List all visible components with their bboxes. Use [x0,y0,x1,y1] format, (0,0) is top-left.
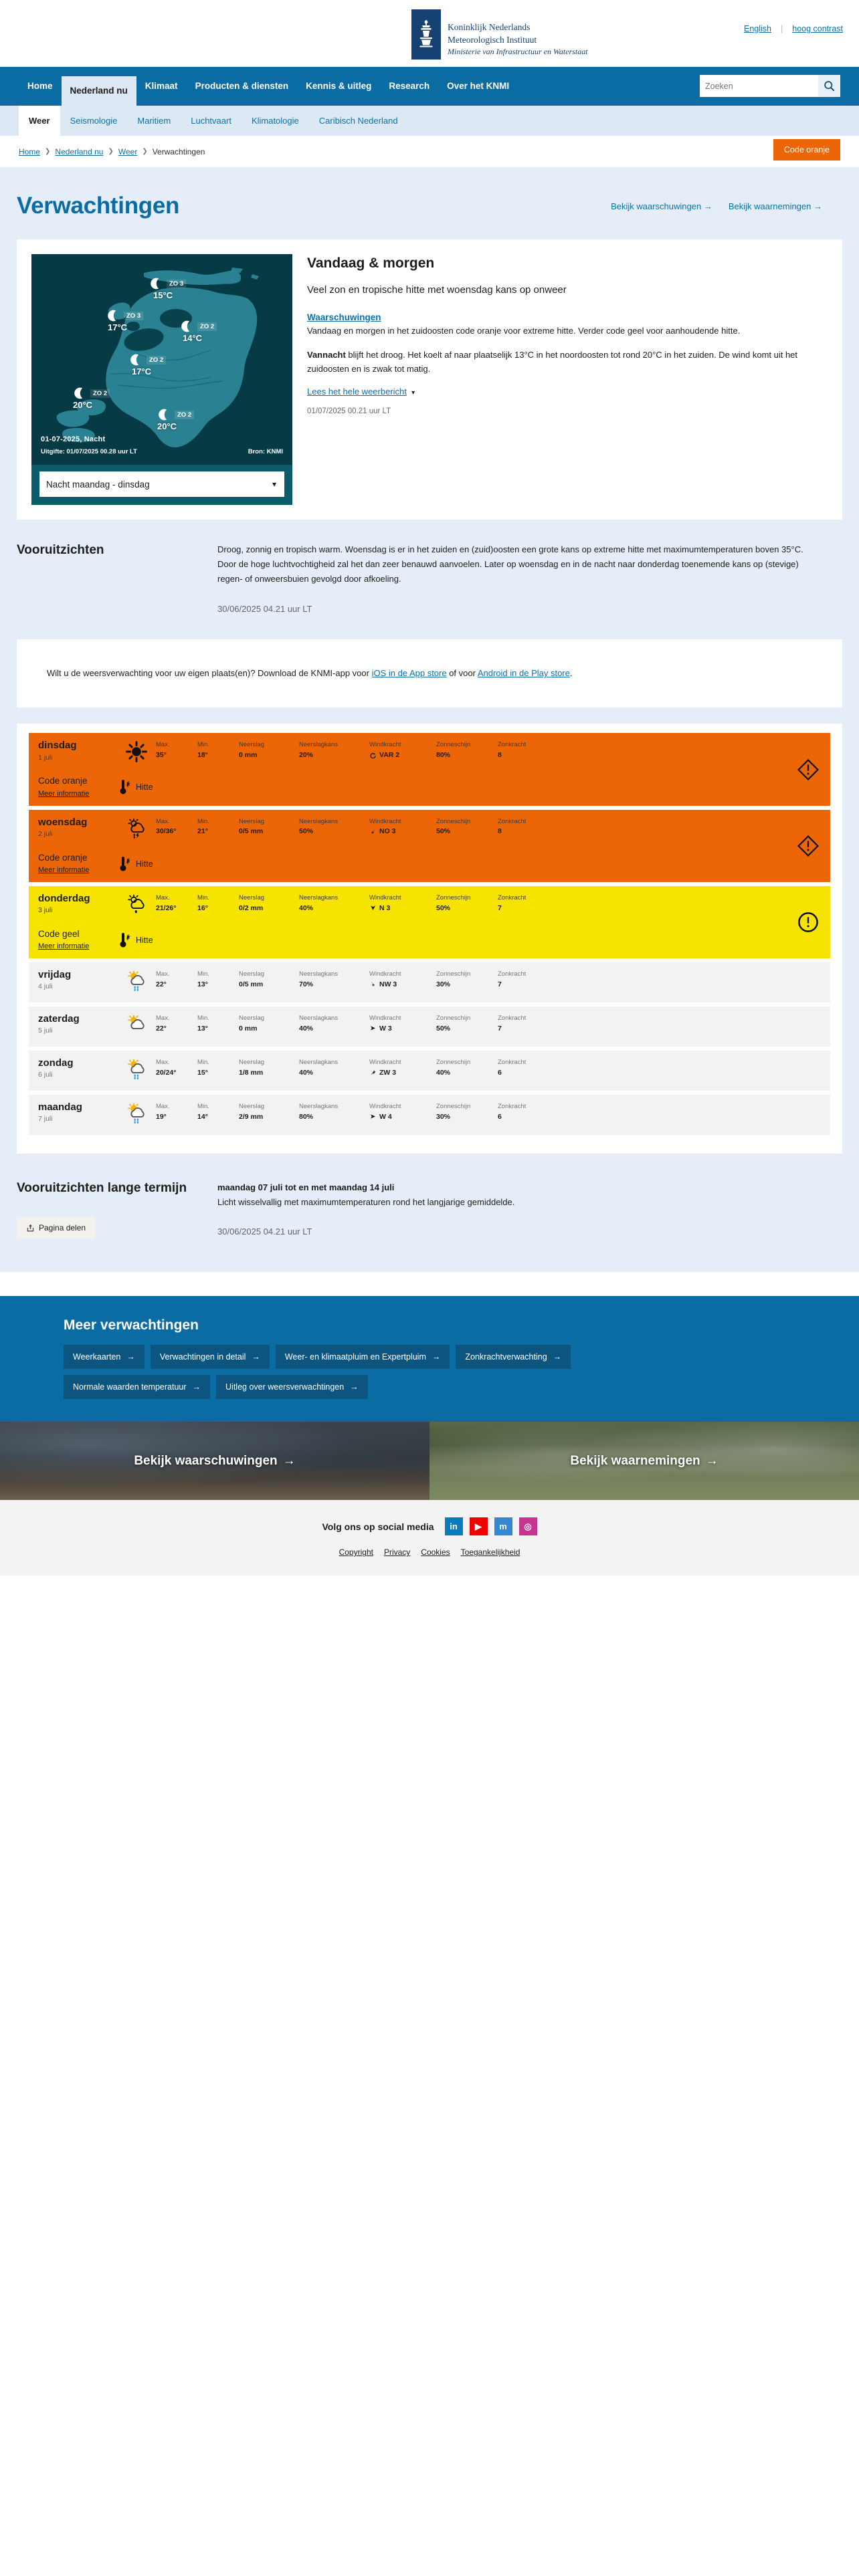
tile-label: Bekijk waarschuwingen [134,1454,277,1469]
metric-sun: Zonneschijn50% [436,1014,498,1033]
alert-kind-label: Hitte [136,859,153,869]
subnav-link-seismologie[interactable]: Seismologie [60,106,128,136]
map-point: ZO 3 17°C [106,309,143,332]
metric-label: Zonneschijn [436,1059,498,1067]
metric-label: Min. [197,970,239,978]
metric-value: 13° [197,1025,239,1033]
forecast-day: zaterdag [38,1013,125,1025]
metric-wind: WindkrachtW 3 [369,1014,436,1033]
arrow-right-icon: → [193,1382,201,1392]
forecast-day: maandag [38,1101,125,1113]
nav-link-research[interactable]: Research [380,67,438,106]
alert-kind: Hitte [118,776,153,796]
chip-normale-waarden-temperatuur[interactable]: Normale waarden temperatuur→ [64,1375,210,1399]
forecast-date: 2 juli [38,830,125,838]
sub-navigation: Weer Seismologie Maritiem Luchtvaart Kli… [0,106,859,136]
metric-value: 50% [299,827,369,835]
metric-wind: WindkrachtVAR 2 [369,741,436,759]
sun-cloud-thunder-icon [125,817,156,843]
metric-value: 70% [299,980,369,988]
metric-value: 40% [299,904,369,912]
nav-link-nederland-nu[interactable]: Nederland nu [62,76,136,106]
breadcrumb-weer[interactable]: Weer [118,147,137,156]
chip-label: Normale waarden temperatuur [73,1382,187,1392]
wind-arrow-icon [369,828,377,835]
page-body: Verwachtingen Bekijk waarschuwingen → Be… [0,167,859,1272]
warnings-body: Vandaag en morgen in het zuidoosten code… [307,324,814,338]
moon-icon [73,387,86,400]
map-point: ZO 2 20°C [73,387,110,410]
breadcrumb-separator-icon: ❯ [45,148,50,155]
metric-rain-chance: Neerslagkans20% [299,741,369,759]
footer-links: Copyright Privacy Cookies Toegankelijkhe… [0,1547,859,1557]
metric-label: Neerslag [239,741,299,749]
search-input[interactable] [700,76,818,96]
alert-kind-label: Hitte [136,782,153,792]
metric-value-wrap: W 3 [369,1025,436,1033]
nav-item-over-het-knmi[interactable]: Over het KNMI [438,67,518,106]
linkedin-icon[interactable]: in [445,1517,463,1535]
metric-label: Zonkracht [498,894,538,902]
metric-value-wrap: W 4 [369,1113,436,1121]
forecast-metrics: Max.22° Min.13° Neerslag0/5 mm Neerslagk… [156,969,821,988]
metric-value: NW 3 [379,980,397,988]
forecast-day: zondag [38,1057,125,1069]
metric-sun: Zonneschijn50% [436,894,498,912]
link-bekijk-waarschuwingen[interactable]: Bekijk waarschuwingen → [611,201,712,211]
footer-link-cookies[interactable]: Cookies [421,1547,450,1557]
metric-label: Neerslagkans [299,894,369,902]
nav-item-nederland-nu[interactable]: Nederland nu [62,76,136,106]
metric-label: Windkracht [369,1059,436,1067]
chip-weer-en-klimaatpluim[interactable]: Weer- en klimaatpluim en Expertpluim→ [276,1345,450,1369]
metric-rain-chance: Neerslagkans40% [299,1059,369,1077]
moon-icon [129,353,142,366]
metric-min: Min.13° [197,970,239,988]
nav-item-klimaat[interactable]: Klimaat [136,67,187,106]
table-row[interactable]: zondag 6 juli Max.20/24° Min.15° Neersla… [29,1051,830,1091]
metric-value: 7 [498,904,538,912]
metric-min: Min.14° [197,1103,239,1121]
chip-label: Weer- en klimaatpluim en Expertpluim [285,1352,426,1362]
tile-waarschuwingen[interactable]: Bekijk waarschuwingen→ [0,1422,429,1500]
footer-link-privacy[interactable]: Privacy [384,1547,410,1557]
top-utility-links: English | hoog contrast [744,24,843,33]
metric-label: Zonkracht [498,818,538,826]
alert-kind: Hitte [118,929,153,949]
metric-value: 7 [498,980,538,988]
social-label: Volg ons op social media [322,1521,434,1532]
nav-item-kennis-uitleg[interactable]: Kennis & uitleg [297,67,380,106]
forecast-date: 3 juli [38,906,125,914]
alert-kind: Hitte [118,853,153,873]
metric-value: 50% [436,827,498,835]
warnings-link[interactable]: Waarschuwingen [307,312,381,322]
metric-uv: Zonkracht6 [498,1103,538,1121]
metric-label: Neerslagkans [299,818,369,826]
map-point: ZO 2 14°C [180,320,217,343]
metric-value: 7 [498,1025,538,1033]
metric-label: Zonneschijn [436,818,498,826]
metric-value: 0 mm [239,751,299,759]
metric-label: Neerslag [239,1059,299,1067]
app-promo-text: Wilt u de weersverwachting voor uw eigen… [47,666,812,681]
weather-map-column: ZO 3 15°C ZO 3 17°C [31,254,292,505]
forecast-date: 1 juli [38,754,125,762]
nav-link-kennis-uitleg[interactable]: Kennis & uitleg [297,67,380,106]
map-temp: 14°C [183,333,217,343]
forecast-metrics: Max.30/36° Min.21° Neerslag0/5 mm Neersl… [156,817,821,836]
longterm-body: Licht wisselvallig met maximumtemperatur… [217,1195,816,1210]
metric-rain: Neerslag2/9 mm [239,1103,299,1121]
metric-label: Zonneschijn [436,1103,498,1111]
metric-label: Max. [156,1014,197,1023]
subnav-link-caribisch-nederland[interactable]: Caribisch Nederland [309,106,408,136]
table-row[interactable]: maandag 7 juli Max.19° Min.14° Neerslag2… [29,1095,830,1135]
day-select[interactable]: Nacht maandag - dinsdag Dinsdag overdag … [39,471,284,497]
chip-weerkaarten[interactable]: Weerkaarten→ [64,1345,145,1369]
more-info-link[interactable]: Meer informatie [38,866,89,874]
breadcrumb-home[interactable]: Home [19,147,40,156]
metric-value: 13° [197,980,239,988]
metric-value: 0 mm [239,1025,299,1033]
breadcrumb-row: Home ❯ Nederland nu ❯ Weer ❯ Verwachting… [0,136,859,167]
link-bekijk-waarnemingen[interactable]: Bekijk waarnemingen → [729,201,822,211]
table-row[interactable]: woensdag 2 juli Max.30/36° Min.21° Neers… [29,810,830,882]
metric-uv: Zonkracht8 [498,741,538,759]
map-wind: ZO 2 [175,411,194,419]
tile-waarnemingen[interactable]: Bekijk waarnemingen→ [429,1422,859,1500]
metric-label: Neerslag [239,818,299,826]
metric-label: Max. [156,894,197,902]
outlook-heading-col: Vooruitzichten [17,542,187,617]
breadcrumb-separator-icon: ❯ [142,148,147,155]
breadcrumb-nederland-nu[interactable]: Nederland nu [55,147,103,156]
page-tail-whitespace [0,1576,859,2004]
moon-icon [180,320,193,333]
metric-label: Zonneschijn [436,894,498,902]
metric-sun: Zonneschijn80% [436,741,498,759]
metric-uv: Zonkracht7 [498,970,538,988]
wind-arrow-icon [369,1025,377,1032]
table-row[interactable]: vrijdag 4 juli Max.22° Min.13° Neerslag0… [29,962,830,1002]
subnav-link-maritiem[interactable]: Maritiem [127,106,181,136]
logo-ministry: Ministerie van Infrastructuur en Waterst… [448,46,588,58]
outlook-section: Vooruitzichten Droog, zonnig en tropisch… [0,520,859,623]
forecast-day-col: donderdag 3 juli [38,893,125,914]
footer-link-copyright[interactable]: Copyright [339,1547,373,1557]
page-header-links: Bekijk waarschuwingen → Bekijk waarnemin… [611,201,859,211]
promo-text-3: . [570,668,573,678]
chip-label: Verwachtingen in detail [160,1352,246,1362]
map-wind: ZO 2 [197,322,217,331]
language-link-english[interactable]: English [744,24,771,33]
metric-value: 80% [299,1113,369,1121]
metric-uv: Zonkracht6 [498,1059,538,1077]
metric-value: 22° [156,980,197,988]
promo-tiles: Bekijk waarschuwingen→ Bekijk waarneming… [0,1422,859,1500]
subnav-item-weer[interactable]: Weer [19,106,60,136]
metric-value: 80% [436,751,498,759]
warning-diamond-icon [797,835,820,857]
metric-label: Neerslag [239,1103,299,1111]
metric-label: Max. [156,1103,197,1111]
metric-value-wrap: VAR 2 [369,751,436,759]
crown-icon [417,19,435,49]
forecast-date: 5 juli [38,1027,125,1035]
forecast-date: 7 juli [38,1115,125,1123]
chevron-down-icon[interactable]: ▾ [409,389,415,397]
social-row: Volg ons op social media in ▶ m ◎ [0,1517,859,1535]
metric-rain: Neerslag0/2 mm [239,894,299,912]
map-temp: 17°C [108,322,143,332]
metric-label: Min. [197,1014,239,1023]
metric-label: Windkracht [369,894,436,902]
metric-wind: WindkrachtNW 3 [369,970,436,988]
chip-uitleg-over-weersverwachtingen[interactable]: Uitleg over weersverwachtingen→ [216,1375,368,1399]
arrow-right-icon: → [283,1454,296,1469]
metric-value: 0/5 mm [239,980,299,988]
page-title: Verwachtingen [17,193,179,219]
day-select-box[interactable]: Nacht maandag - dinsdag Dinsdag overdag … [39,471,284,497]
link-divider: | [781,24,783,33]
tonight-body: blijft het droog. Het koelt af naar plaa… [307,350,797,374]
map-temp: 20°C [73,400,110,410]
heat-thermometer-icon [118,855,130,873]
share-label: Pagina delen [39,1223,86,1232]
more-info-link[interactable]: Meer informatie [38,790,89,798]
table-row[interactable]: dinsdag 1 juli Max.35° Min.18° Neerslag0… [29,733,830,805]
breadcrumb-current: Verwachtingen [153,147,205,156]
search-button[interactable] [818,75,840,97]
arrow-right-icon: → [126,1352,135,1362]
subnav-link-luchtvaart[interactable]: Luchtvaart [181,106,242,136]
heat-thermometer-icon [118,778,130,796]
subnav-item-klimatologie[interactable]: Klimatologie [242,106,309,136]
tile-label: Bekijk waarnemingen [570,1454,700,1469]
metric-value: N 3 [379,904,390,912]
map-wind: ZO 2 [147,356,166,364]
map-temp: 17°C [132,366,166,377]
play-store-link[interactable]: Android in de Play store [478,668,570,678]
alert-code: Code oranje [38,776,112,786]
forecast-day-col: zaterdag 5 juli [38,1013,125,1035]
metric-label: Zonkracht [498,1014,538,1023]
nav-link-over-het-knmi[interactable]: Over het KNMI [438,67,518,106]
metric-wind: WindkrachtZW 3 [369,1059,436,1077]
metric-sun: Zonneschijn50% [436,818,498,836]
app-store-link[interactable]: iOS in de App store [372,668,447,678]
weather-map-image[interactable]: ZO 3 15°C ZO 3 17°C [31,254,292,465]
metric-label: Min. [197,1103,239,1111]
knmi-logo: Koninklijk Nederlands Meteorologisch Ins… [411,9,588,60]
forecast-metrics: Max.22° Min.13° Neerslag0 mm Neerslagkan… [156,1013,821,1033]
sun-cloud-icon [125,1013,156,1040]
nav-link-producten-diensten[interactable]: Producten & diensten [187,67,298,106]
metric-label: Neerslag [239,1014,299,1023]
metric-label: Zonkracht [498,970,538,978]
subnav-link-klimatologie[interactable]: Klimatologie [242,106,309,136]
alert-code-col: Code geel Meer informatie [38,929,112,952]
tile-link-waarnemingen[interactable]: Bekijk waarnemingen→ [570,1454,718,1469]
metric-rain: Neerslag0/5 mm [239,970,299,988]
search-box[interactable] [700,75,840,97]
map-temp: 20°C [157,421,194,431]
metric-value: ZW 3 [379,1069,396,1077]
metric-label: Zonkracht [498,1059,538,1067]
metric-rain-chance: Neerslagkans50% [299,818,369,836]
chip-zonkrachtverwachting[interactable]: Zonkrachtverwachting→ [456,1345,571,1369]
metric-value: W 3 [379,1025,392,1033]
alert-code: Code geel [38,929,112,940]
warnings-heading: Waarschuwingen [307,312,814,322]
metric-max: Max.19° [156,1103,197,1121]
metric-min: Min.21° [197,818,239,836]
longterm-timestamp: 30/06/2025 04.21 uur LT [217,1224,816,1239]
outlook-body-col: Droog, zonnig en tropisch warm. Woensdag… [217,542,842,617]
map-title: 01-07-2025, Nacht [41,435,105,443]
sun-cloud-rain-icon [125,1057,156,1084]
metric-value: VAR 2 [379,751,399,759]
metric-value: 6 [498,1113,538,1121]
mastodon-icon[interactable]: m [494,1517,512,1535]
metric-value: 8 [498,751,538,759]
metric-value: 14° [197,1113,239,1121]
chip-verwachtingen-in-detail[interactable]: Verwachtingen in detail→ [151,1345,270,1369]
forecast-day-col: maandag 7 juli [38,1101,125,1123]
outlook-heading: Vooruitzichten [17,542,187,559]
read-full-report-link[interactable]: Lees het hele weerbericht [307,387,407,397]
metric-rain-chance: Neerslagkans40% [299,894,369,912]
map-wind: ZO 3 [124,312,143,320]
forecast-date: 6 juli [38,1071,125,1079]
map-source: Bron: KNMI [248,448,283,455]
subnav-link-weer[interactable]: Weer [19,106,60,136]
nav-link-klimaat[interactable]: Klimaat [136,67,187,106]
longterm-period: maandag 07 juli tot en met maandag 14 ju… [217,1180,816,1195]
more-forecasts-section: Meer verwachtingen Weerkaarten→ Verwacht… [0,1296,859,1422]
wind-arrow-icon [369,1069,377,1076]
metric-wind: WindkrachtW 4 [369,1103,436,1121]
metric-value: 18° [197,751,239,759]
subnav-item-caribisch-nederland[interactable]: Caribisch Nederland [309,106,408,136]
arrow-right-icon: → [350,1382,359,1392]
nav-link-home[interactable]: Home [19,67,62,106]
instagram-icon[interactable]: ◎ [519,1517,537,1535]
metric-rain-chance: Neerslagkans70% [299,970,369,988]
sun-cloud-rain-icon [125,969,156,996]
metric-label: Zonneschijn [436,741,498,749]
metric-value: 20% [299,751,369,759]
metric-label: Zonkracht [498,741,538,749]
sub-nav-list: Weer Seismologie Maritiem Luchtvaart Kli… [19,106,408,136]
metric-value-wrap: ZW 3 [369,1069,436,1077]
tile-link-waarschuwingen[interactable]: Bekijk waarschuwingen→ [134,1454,295,1469]
outlook-body: Droog, zonnig en tropisch warm. Woensdag… [217,542,816,586]
today-lead: Veel zon en tropische hitte met woensdag… [307,282,814,299]
metric-rain: Neerslag0 mm [239,1014,299,1033]
map-issued: Uitgifte: 01/07/2025 00.28 uur LT [41,448,137,455]
high-contrast-link[interactable]: hoog contrast [792,24,843,33]
moon-icon [149,277,163,290]
metric-label: Windkracht [369,741,436,749]
share-page-button[interactable]: Pagina delen [17,1217,95,1239]
map-wind: ZO 3 [167,280,186,288]
metric-max: Max.20/24° [156,1059,197,1077]
promo-text-2: of voor [447,668,478,678]
footer: Volg ons op social media in ▶ m ◎ Copyri… [0,1500,859,1576]
nav-item-research[interactable]: Research [380,67,438,106]
subnav-item-seismologie[interactable]: Seismologie [60,106,128,136]
today-text-column: Vandaag & morgen Veel zon en tropische h… [307,254,828,505]
table-row[interactable]: zaterdag 5 juli Max.22° Min.13° Neerslag… [29,1006,830,1047]
moon-icon [106,309,120,322]
code-oranje-badge[interactable]: Code oranje [773,139,840,160]
top-bar: Koninklijk Nederlands Meteorologisch Ins… [0,0,859,67]
forecast-alert: Code geel Meer informatie Hitte [38,929,239,952]
forecast-day: vrijdag [38,969,125,980]
metric-value: 2/9 mm [239,1113,299,1121]
forecast-day: dinsdag [38,740,125,751]
metric-label: Windkracht [369,1103,436,1111]
metric-value: 30/36° [156,827,197,835]
metric-label: Windkracht [369,1014,436,1023]
metric-value: 20/24° [156,1069,197,1077]
metric-label: Neerslag [239,970,299,978]
subnav-item-luchtvaart[interactable]: Luchtvaart [181,106,242,136]
metric-value: 6 [498,1069,538,1077]
logo-line-1: Koninklijk Nederlands [448,21,588,33]
tonight-label: Vannacht [307,350,346,360]
map-point: ZO 2 20°C [157,408,194,431]
metric-value: 40% [299,1025,369,1033]
nav-item-producten-diensten[interactable]: Producten & diensten [187,67,298,106]
metric-label: Min. [197,818,239,826]
map-temp: 15°C [153,290,186,300]
promo-text-1: Wilt u de weersverwachting voor uw eigen… [47,668,372,678]
metric-label: Max. [156,1059,197,1067]
metric-value: NO 3 [379,827,396,835]
longterm-heading: Vooruitzichten lange termijn [17,1180,187,1197]
sun-cloud-rain-icon [125,1101,156,1128]
table-row[interactable]: donderdag 3 juli Max.21/26° Min.16° Neer… [29,886,830,958]
today-timestamp: 01/07/2025 00.21 uur LT [307,407,814,415]
metric-value: 19° [156,1113,197,1121]
longterm-heading-col: Vooruitzichten lange termijn Pagina dele… [17,1180,187,1239]
forecast-day-col: vrijdag 4 juli [38,969,125,990]
metric-label: Min. [197,894,239,902]
nav-item-home[interactable]: Home [19,67,62,106]
forecast-metrics: Max.21/26° Min.16° Neerslag0/2 mm Neersl… [156,893,821,912]
youtube-icon[interactable]: ▶ [470,1517,488,1535]
metric-value: 40% [299,1069,369,1077]
metric-rain: Neerslag0/5 mm [239,818,299,836]
warning-circle-icon [797,911,820,934]
longterm-body-col: maandag 07 juli tot en met maandag 14 ju… [217,1180,842,1239]
footer-link-toegankelijkheid[interactable]: Toegankelijkheid [461,1547,520,1557]
metric-label: Max. [156,741,197,749]
metric-label: Max. [156,818,197,826]
heat-thermometer-icon [118,932,130,949]
subnav-item-maritiem[interactable]: Maritiem [127,106,181,136]
metric-max: Max.22° [156,1014,197,1033]
metric-label: Neerslag [239,894,299,902]
more-info-link[interactable]: Meer informatie [38,942,89,950]
metric-value: 35° [156,751,197,759]
forecast-metrics: Max.19° Min.14° Neerslag2/9 mm Neerslagk… [156,1101,821,1121]
forecast-alert: Code oranje Meer informatie Hitte [38,776,239,798]
metric-label: Min. [197,741,239,749]
